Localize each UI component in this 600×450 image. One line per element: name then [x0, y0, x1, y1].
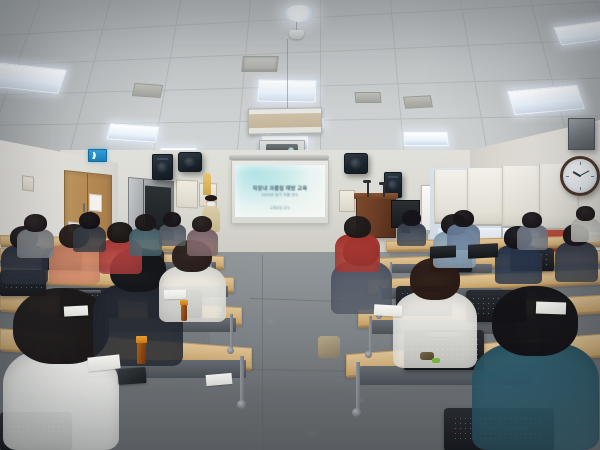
- lecture-room-photo: 직장내 괴롭힘 예방 교육 2023년 정기 직원 연수 교육담당 강사: [0, 0, 600, 450]
- photo-vignette: [0, 0, 600, 450]
